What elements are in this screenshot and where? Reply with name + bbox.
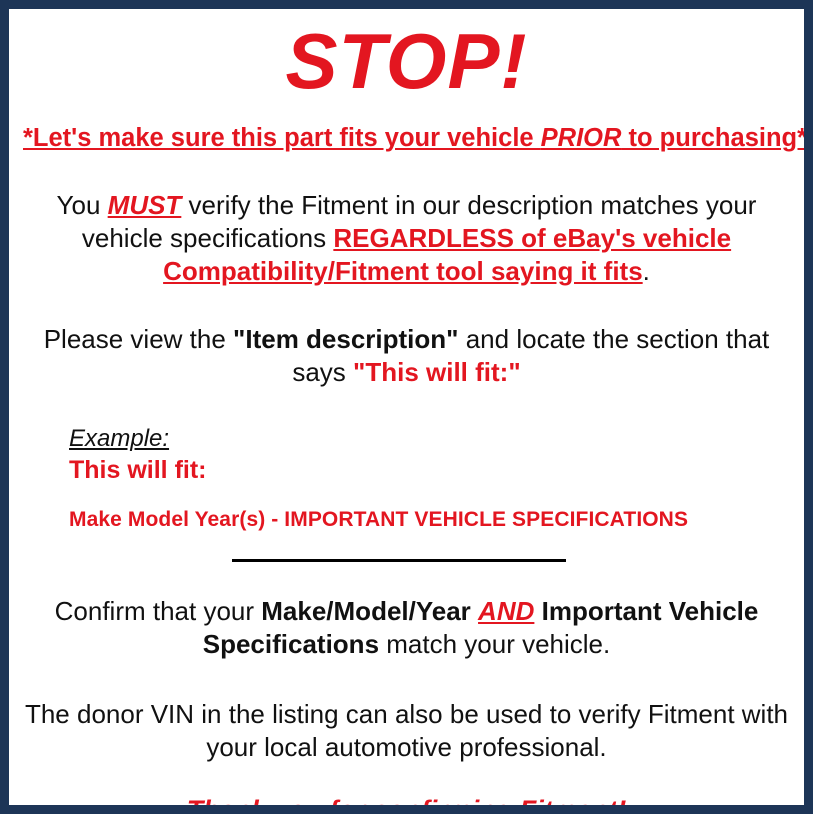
confirm-make-model-year-emphasis: Make/Model/Year [261, 596, 471, 626]
thank-you-line: Thank you for confirming Fitment! [23, 764, 790, 814]
subtitle-prior-emphasis: PRIOR [541, 124, 622, 152]
view-text-part-1: Please view the [44, 324, 233, 354]
view-item-description-emphasis: "Item description" [233, 324, 458, 354]
stop-title: STOP! [23, 9, 790, 105]
verify-text-part-3: . [643, 256, 650, 286]
subtitle-tail: to purchasing* [621, 124, 807, 152]
example-spec-line: Make Model Year(s) - IMPORTANT VEHICLE S… [69, 485, 790, 533]
view-this-will-fit-emphasis: "This will fit:" [353, 357, 521, 387]
paragraph-view-description: Please view the "Item description" and l… [23, 288, 790, 389]
example-label: Example: [69, 425, 790, 453]
paragraph-confirm-match: Confirm that your Make/Model/Year AND Im… [23, 573, 790, 661]
paragraph-verify-fitment: You MUST verify the Fitment in our descr… [23, 153, 790, 288]
verify-must-emphasis: MUST [108, 190, 182, 220]
subtitle-line: *Let's make sure this part fits your veh… [23, 105, 790, 153]
confirm-text-part-1: Confirm that your [55, 596, 262, 626]
verify-text-part-1: You [57, 190, 108, 220]
paragraph-donor-vin: The donor VIN in the listing can also be… [23, 661, 790, 764]
subtitle-lead: *Let's make sure this part fits your veh… [23, 124, 541, 152]
confirm-and-emphasis: AND [478, 596, 534, 626]
divider-wrapper [23, 533, 790, 573]
section-divider [232, 559, 566, 562]
confirm-text-part-2: match your vehicle. [379, 629, 610, 659]
fitment-notice-card: STOP! *Let's make sure this part fits yo… [0, 0, 813, 814]
example-block: Example: This will fit: Make Model Year(… [23, 389, 790, 533]
notice-content: STOP! *Let's make sure this part fits yo… [9, 9, 804, 805]
example-fit-heading: This will fit: [69, 453, 790, 485]
